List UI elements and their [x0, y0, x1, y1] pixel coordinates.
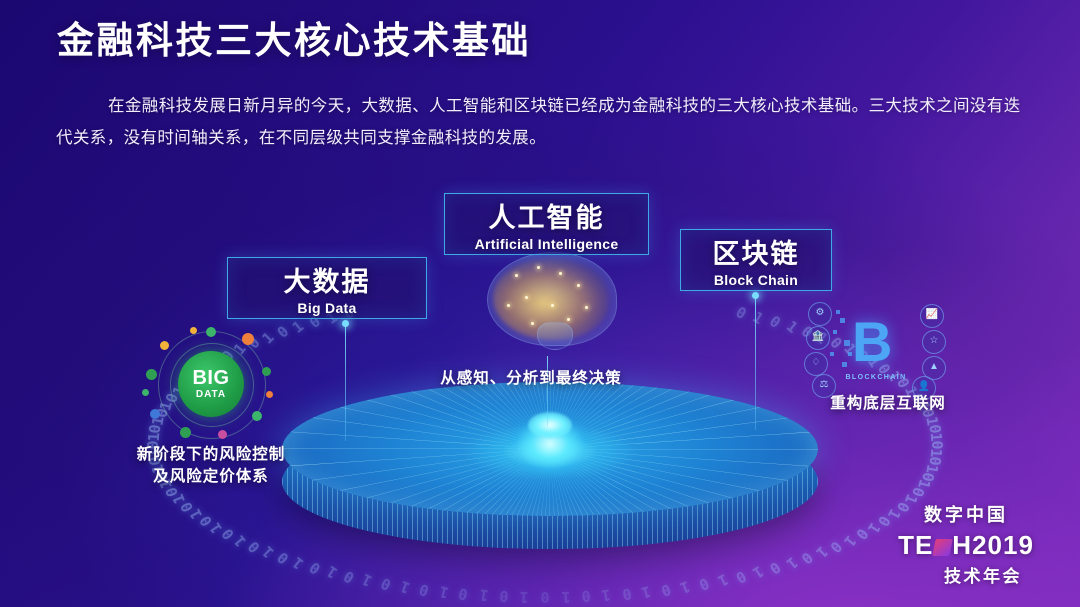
binary-digit: 1: [640, 582, 653, 602]
event-logo: 数字中国 TEH2019 技术年会: [886, 501, 1046, 589]
caption-block-chain: 重构底层互联网: [802, 393, 974, 415]
logo-mark-icon: [932, 539, 953, 556]
binary-digit: 0: [620, 584, 633, 603]
gear-icon: ⚙: [808, 302, 832, 326]
bank-icon: 🏦: [806, 326, 830, 350]
binary-digit: 1: [519, 588, 529, 606]
label-box-block-chain[interactable]: 区块链 Block Chain: [680, 229, 832, 291]
binary-digit: 0: [499, 587, 510, 606]
blockchain-wordmark: BLOCKCHAIN: [836, 374, 916, 381]
disc-core-highlight: [528, 412, 572, 438]
binary-digit: 0: [659, 580, 673, 600]
binary-digit: 1: [231, 531, 251, 549]
connector-dot-big-data: [342, 320, 349, 327]
caption-ai-line1: 从感知、分析到最终决策: [420, 368, 642, 390]
binary-digit: 0: [218, 525, 238, 543]
binary-digit: 0: [925, 455, 944, 466]
binary-digit: 0: [417, 580, 431, 600]
binary-digit: 1: [206, 519, 226, 536]
binary-digit: 0: [273, 322, 292, 341]
page-title: 金融科技三大核心技术基础: [57, 18, 531, 63]
caption-block-chain-line1: 重构底层互联网: [802, 393, 974, 415]
binary-digit: 0: [457, 584, 470, 603]
binary-digit: 0: [733, 303, 750, 323]
binary-digit: 1: [169, 492, 189, 507]
label-en-block-chain: Block Chain: [699, 272, 813, 288]
binary-digit: 0: [540, 588, 549, 606]
caption-ai: 从感知、分析到最终决策: [420, 368, 642, 390]
label-cn-block-chain: 区块链: [699, 239, 813, 269]
label-box-big-data[interactable]: 大数据 Big Data: [227, 257, 427, 319]
caption-big-data-line2: 及风险定价体系: [100, 466, 322, 488]
disc-ray: [550, 449, 818, 467]
label-cn-ai: 人工智能: [463, 203, 630, 233]
logo-line-2: TEH2019: [886, 530, 1046, 561]
binary-digit: 0: [919, 470, 938, 483]
connector-line-big-data: [345, 323, 346, 441]
binary-digit: 0: [581, 587, 592, 606]
binary-digit: 1: [478, 586, 490, 605]
connector-line-block-chain: [755, 295, 756, 430]
binary-digit: 0: [766, 312, 784, 332]
binary-digit: 1: [397, 577, 412, 597]
binary-digit: 1: [359, 570, 375, 590]
binary-digit: 1: [715, 570, 731, 590]
logo-line-3: 技术年会: [886, 562, 1046, 587]
label-box-ai[interactable]: 人工智能 Artificial Intelligence: [444, 193, 649, 255]
binary-digit: 1: [186, 506, 206, 522]
chart-icon: 📈: [920, 304, 944, 328]
big-data-cluster-icon: BIG DATA: [142, 327, 274, 442]
label-en-ai: Artificial Intelligence: [463, 236, 630, 252]
binary-digit: 0: [378, 574, 394, 594]
connector-dot-block-chain: [752, 292, 759, 299]
big-data-core: BIG DATA: [178, 351, 244, 417]
glowing-brain-icon: [485, 248, 617, 350]
slide-root: 金融科技三大核心技术基础 在金融科技发展日新月异的今天，大数据、人工智能和区块链…: [0, 0, 1080, 607]
leaf-icon: ♢: [804, 352, 828, 376]
caption-big-data-line1: 新阶段下的风险控制: [100, 444, 322, 466]
binary-digit: 1: [289, 317, 307, 337]
binary-digit: 1: [927, 432, 945, 442]
binary-digit: 1: [678, 577, 693, 597]
binary-digit: 1: [914, 478, 934, 491]
binary-digit: 1: [437, 582, 450, 602]
binary-digit: 1: [750, 308, 767, 328]
label-cn-big-data: 大数据: [246, 267, 408, 297]
body-paragraph: 在金融科技发展日新月异的今天，大数据、人工智能和区块链已经成为金融科技的三大核心…: [56, 90, 1026, 154]
binary-digit: 1: [600, 586, 612, 605]
binary-digit: 1: [927, 448, 945, 458]
binary-digit: 1: [923, 415, 942, 427]
binary-digit: 1: [783, 317, 801, 337]
label-en-big-data: Big Data: [246, 300, 408, 316]
blockchain-b-icon: B BLOCKCHAIN ⚙ 📈 🏦 ☆ ♢ ▲ ⚖ 👤: [800, 300, 950, 400]
caption-big-data: 新阶段下的风险控制 及风险定价体系: [100, 444, 322, 489]
binary-digit: 0: [177, 499, 197, 515]
connector-line-ai: [547, 356, 548, 426]
central-platform-disc: [250, 372, 850, 572]
logo-line-2-post: H2019: [952, 530, 1034, 560]
binary-digit: 0: [195, 513, 215, 530]
logo-line-1: 数字中国: [886, 501, 1046, 527]
binary-digit: 0: [928, 440, 946, 449]
binary-digit: 0: [852, 525, 872, 543]
binary-digit: 0: [925, 424, 944, 435]
handshake-icon: ☆: [922, 330, 946, 354]
binary-digit: 1: [923, 463, 942, 475]
binary-digit: 1: [561, 588, 571, 606]
big-data-core-top: BIG: [192, 368, 229, 388]
big-data-core-bottom: DATA: [196, 390, 226, 400]
blockchain-glyph: B: [852, 314, 898, 372]
binary-digit: 0: [697, 574, 713, 594]
binary-digit: 1: [864, 519, 884, 536]
disc-ray: [550, 382, 811, 449]
logo-line-2-pre: TE: [898, 530, 933, 560]
binary-digit: 0: [908, 485, 928, 499]
